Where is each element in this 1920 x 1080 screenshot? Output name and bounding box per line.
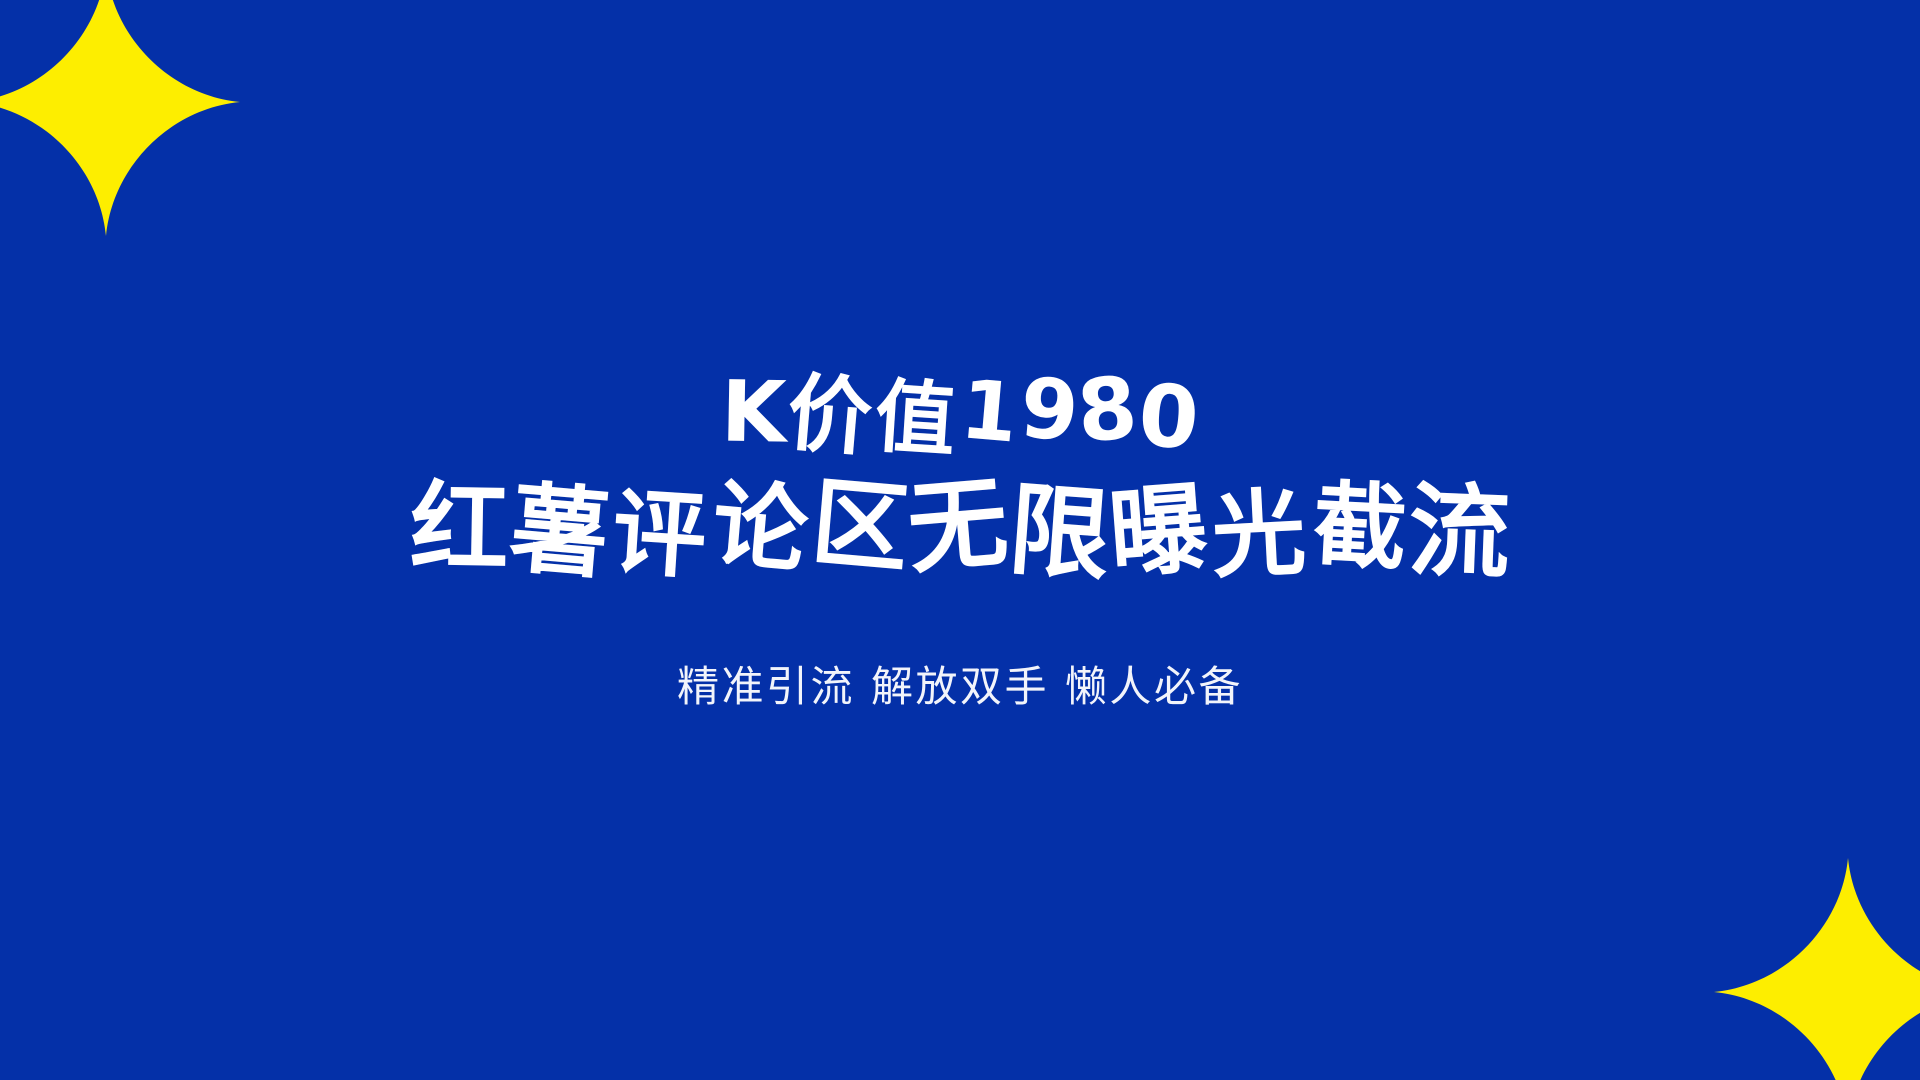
title-block: K价值1980 红薯评论区无限曝光截流 精准引流 解放双手 懒人必备 — [0, 0, 1920, 1080]
headline-line-2: 红薯评论区无限曝光截流 — [410, 482, 1510, 580]
sparkle-icon-bottom-right — [1714, 858, 1920, 1080]
headline-line-1: K价值1980 — [721, 372, 1200, 456]
promo-slide: K价值1980 红薯评论区无限曝光截流 精准引流 解放双手 懒人必备 — [0, 0, 1920, 1080]
subtitle: 精准引流 解放双手 懒人必备 — [677, 666, 1243, 708]
